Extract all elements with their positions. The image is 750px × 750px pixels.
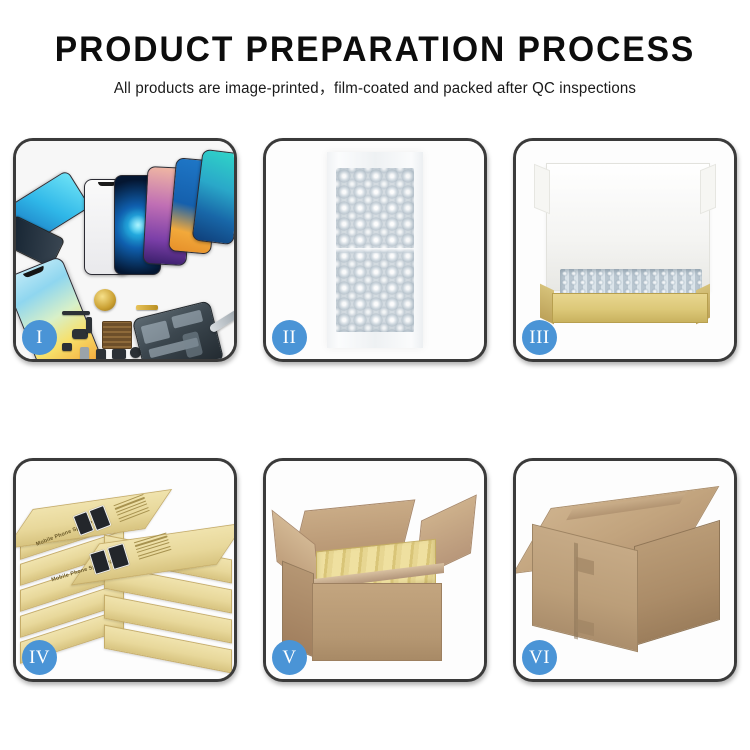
flex-cable-part-icon bbox=[62, 311, 90, 315]
box-lid-flap-left-icon bbox=[534, 164, 550, 214]
chassis-component-icon bbox=[171, 310, 203, 329]
step-badge-1: I bbox=[22, 320, 57, 355]
step-badge-5: V bbox=[272, 640, 307, 675]
process-step-panel-2: II bbox=[263, 138, 487, 362]
bag-seam-icon bbox=[336, 248, 414, 253]
chassis-component-icon bbox=[141, 320, 171, 344]
page-subtitle: All products are image-printed，film-coat… bbox=[11, 79, 739, 99]
header: PRODUCT PREPARATION PROCESS All products… bbox=[0, 28, 750, 99]
battery-connector-part-icon bbox=[96, 349, 106, 359]
process-step-panel-1: I bbox=[13, 138, 237, 362]
gold-coil-part-icon bbox=[94, 289, 116, 311]
page-title: PRODUCT PREPARATION PROCESS bbox=[15, 28, 735, 72]
step-badge-3: III bbox=[522, 320, 557, 355]
sim-tray-part-icon bbox=[80, 347, 89, 359]
box-front-kraft-icon bbox=[552, 293, 708, 323]
process-step-panel-3: III bbox=[513, 138, 737, 362]
process-step-panel-4: Mobile Phone Spare Parts Mobile Phone Sp… bbox=[13, 458, 237, 682]
speaker-part-icon bbox=[112, 349, 126, 359]
bubble-wrap-bag-icon bbox=[327, 152, 423, 348]
button-flex-part-icon bbox=[86, 317, 92, 333]
step-badge-6: VI bbox=[522, 640, 557, 675]
step-badge-4: IV bbox=[22, 640, 57, 675]
step-badge-2: II bbox=[272, 320, 307, 355]
small-connector-part-icon bbox=[62, 343, 72, 351]
gold-connector-part-icon bbox=[136, 305, 158, 310]
screw-grid-part-icon bbox=[102, 321, 132, 349]
process-step-panel-5: V bbox=[263, 458, 487, 682]
product-preparation-process-page: PRODUCT PREPARATION PROCESS All products… bbox=[0, 0, 750, 750]
process-steps-grid: I II III bbox=[13, 138, 737, 682]
chassis-component-icon bbox=[182, 331, 203, 358]
box-lid-flap-right-icon bbox=[700, 164, 716, 214]
process-step-panel-6: VI bbox=[513, 458, 737, 682]
carton-front-icon bbox=[312, 583, 442, 661]
